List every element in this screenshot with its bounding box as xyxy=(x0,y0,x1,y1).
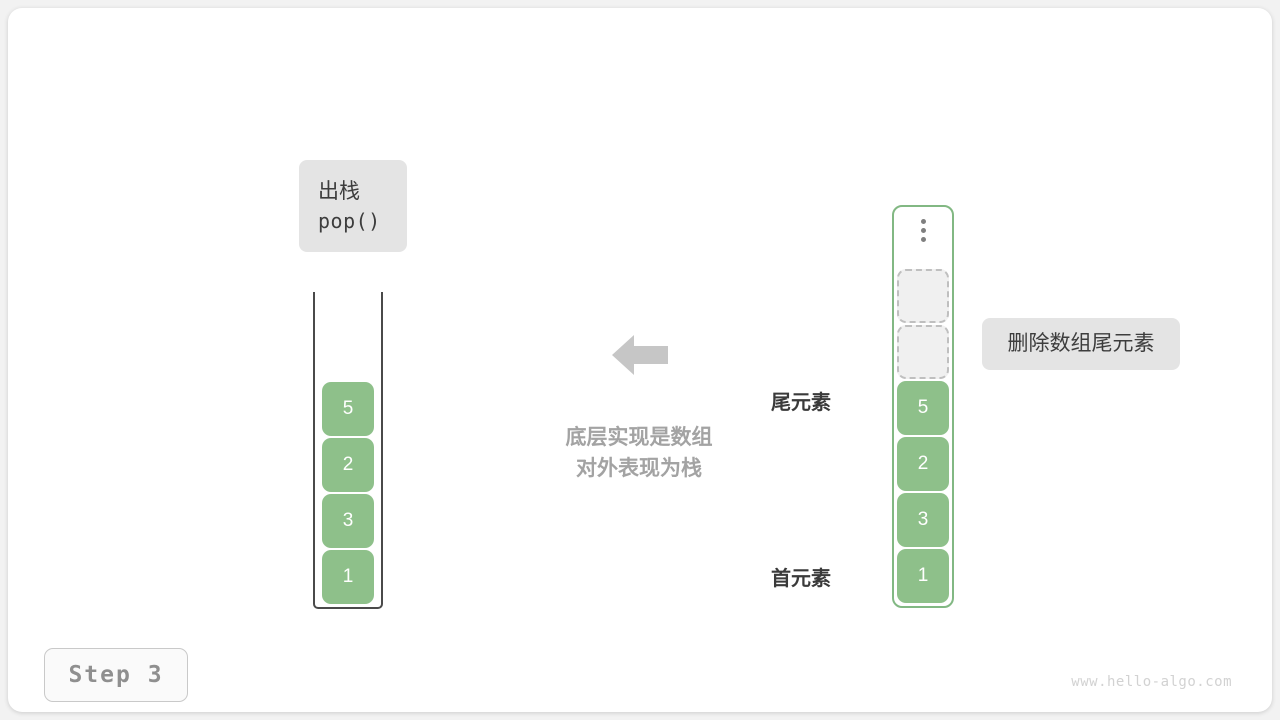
center-caption-line-2: 对外表现为栈 xyxy=(489,453,789,484)
array-slot: 1 xyxy=(897,549,949,603)
watermark: www.hello-algo.com xyxy=(1071,674,1232,690)
array-slot-list: 5 2 3 1 xyxy=(897,269,949,603)
stack-container: 5 2 3 1 xyxy=(313,292,383,609)
array-slot: 5 xyxy=(897,381,949,435)
stack-cell: 3 xyxy=(322,494,374,548)
ellipsis-dot xyxy=(921,228,926,233)
delete-tail-callout: 删除数组尾元素 xyxy=(982,318,1180,370)
array-container: 5 2 3 1 xyxy=(892,205,954,608)
vertical-ellipsis-icon xyxy=(894,219,952,242)
array-slot-empty xyxy=(897,325,949,379)
ellipsis-dot xyxy=(921,237,926,242)
step-badge: Step 3 xyxy=(44,648,188,702)
array-label-head: 首元素 xyxy=(698,562,831,591)
diagram-card: 出栈 pop() 5 2 3 1 底层实现是数组 对外表现为栈 尾元素 首元素 xyxy=(8,8,1272,712)
stack-cell-list: 5 2 3 1 xyxy=(315,382,381,604)
pop-callout: 出栈 pop() xyxy=(299,160,407,252)
stack-cell: 1 xyxy=(322,550,374,604)
array-slot-empty xyxy=(897,269,949,323)
delete-tail-callout-text: 删除数组尾元素 xyxy=(1008,329,1155,359)
ellipsis-dot xyxy=(921,219,926,224)
screenshot-canvas: 出栈 pop() 5 2 3 1 底层实现是数组 对外表现为栈 尾元素 首元素 xyxy=(0,0,1280,720)
array-slot: 3 xyxy=(897,493,949,547)
pop-callout-code: pop() xyxy=(318,207,381,235)
array-slot: 2 xyxy=(897,437,949,491)
array-label-tail: 尾元素 xyxy=(698,386,831,415)
center-caption-line-1: 底层实现是数组 xyxy=(489,422,789,453)
center-caption: 底层实现是数组 对外表现为栈 xyxy=(489,422,789,484)
stack-cell: 2 xyxy=(322,438,374,492)
arrow-left-icon xyxy=(610,325,670,385)
stack-cell: 5 xyxy=(322,382,374,436)
pop-callout-title: 出栈 xyxy=(318,177,360,207)
